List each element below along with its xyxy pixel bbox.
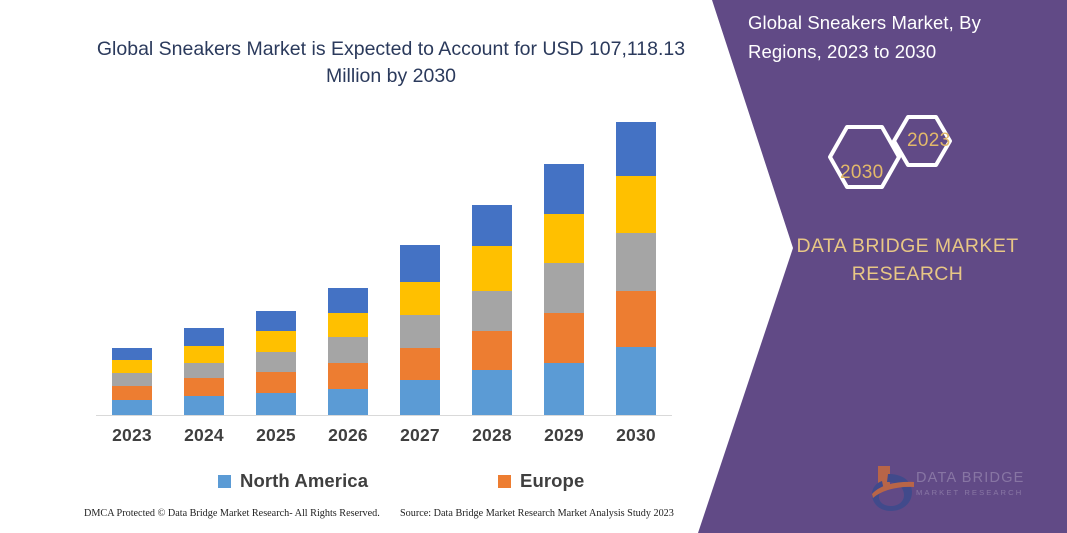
bar-segment <box>400 380 440 415</box>
bar-group-2030[interactable] <box>600 100 672 415</box>
hexagon-label-2023: 2023 <box>907 130 950 152</box>
x-tick-2024: 2024 <box>168 425 240 446</box>
bar-segment <box>616 233 656 291</box>
bar-segment <box>544 164 584 214</box>
chart-title: Global Sneakers Market is Expected to Ac… <box>95 36 687 90</box>
bar-segment <box>256 372 296 393</box>
bar-segment <box>544 263 584 313</box>
dbmr-logo-text: DATA BRIDGE MARKET RESEARCH <box>916 470 1056 499</box>
bar-segment <box>472 205 512 246</box>
stacked-bar[interactable] <box>616 122 656 415</box>
bar-segment <box>544 313 584 362</box>
bar-group-2028[interactable] <box>456 100 528 415</box>
bar-segment <box>184 378 224 396</box>
bar-segment <box>328 389 368 415</box>
bar-segment <box>616 122 656 176</box>
stacked-bar[interactable] <box>112 348 152 415</box>
bar-segment <box>616 347 656 415</box>
x-tick-2030: 2030 <box>600 425 672 446</box>
bar-segment <box>400 348 440 381</box>
bar-group-2029[interactable] <box>528 100 600 415</box>
dbmr-b-mark-icon <box>868 462 916 514</box>
bar-segment <box>112 360 152 373</box>
legend-item-north-america[interactable]: North America <box>218 470 368 492</box>
hexagon-badge-group: 2030 2023 <box>812 105 992 210</box>
bar-segment <box>328 363 368 389</box>
bar-segment <box>328 337 368 362</box>
bar-segment <box>112 386 152 401</box>
x-tick-2028: 2028 <box>456 425 528 446</box>
bar-segment <box>112 373 152 386</box>
bar-group-2027[interactable] <box>384 100 456 415</box>
chart-legend: North America Europe <box>180 470 630 496</box>
x-tick-2026: 2026 <box>312 425 384 446</box>
bar-segment <box>328 313 368 337</box>
bar-group-2023[interactable] <box>96 100 168 415</box>
bar-segment <box>472 370 512 415</box>
bar-segment <box>184 328 224 346</box>
legend-label-europe: Europe <box>520 470 584 492</box>
bar-segment <box>184 346 224 363</box>
bar-segment <box>256 393 296 415</box>
bar-group-2026[interactable] <box>312 100 384 415</box>
bar-segment <box>400 282 440 316</box>
bar-segment <box>472 246 512 291</box>
bar-segment <box>544 363 584 416</box>
stacked-bar[interactable] <box>328 288 368 415</box>
x-tick-2027: 2027 <box>384 425 456 446</box>
x-axis-tick-labels: 20232024202520262027202820292030 <box>96 425 672 451</box>
stacked-bar[interactable] <box>400 245 440 415</box>
bar-segment <box>616 176 656 234</box>
stacked-bar[interactable] <box>184 328 224 415</box>
brand-name: DATA BRIDGE MARKET RESEARCH <box>790 232 1025 288</box>
stacked-bar[interactable] <box>544 164 584 415</box>
legend-item-europe[interactable]: Europe <box>498 470 584 492</box>
bar-segment <box>328 288 368 313</box>
x-tick-2025: 2025 <box>240 425 312 446</box>
bar-segment <box>472 291 512 331</box>
bar-segment <box>400 245 440 282</box>
infographic-canvas: Global Sneakers Market is Expected to Ac… <box>0 0 1067 533</box>
bar-segment <box>400 315 440 348</box>
stacked-bar[interactable] <box>256 311 296 415</box>
bar-segment <box>112 400 152 415</box>
legend-swatch-north-america <box>218 475 231 488</box>
bar-segment <box>544 214 584 262</box>
legend-swatch-europe <box>498 475 511 488</box>
x-tick-2023: 2023 <box>96 425 168 446</box>
bar-segment <box>616 291 656 347</box>
bar-group-2024[interactable] <box>168 100 240 415</box>
bar-segment <box>472 331 512 370</box>
stacked-bar[interactable] <box>472 205 512 415</box>
legend-label-north-america: North America <box>240 470 368 492</box>
hexagon-label-2030: 2030 <box>840 162 883 184</box>
dbmr-logo: DATA BRIDGE MARKET RESEARCH <box>868 462 1058 518</box>
bar-segment <box>184 363 224 379</box>
bar-segment <box>184 396 224 415</box>
dbmr-logo-sub-text: MARKET RESEARCH <box>916 487 1056 499</box>
x-tick-2029: 2029 <box>528 425 600 446</box>
panel-title: Global Sneakers Market, By Regions, 2023… <box>748 8 1048 66</box>
x-axis-line <box>96 415 672 416</box>
footer-dmca-notice: DMCA Protected © Data Bridge Market Rese… <box>84 508 380 519</box>
bar-segment <box>256 311 296 331</box>
bar-chart-plot-area <box>96 100 672 416</box>
bar-group-2025[interactable] <box>240 100 312 415</box>
bar-segment <box>256 331 296 352</box>
footer-source-note: Source: Data Bridge Market Research Mark… <box>400 508 674 519</box>
dbmr-logo-main-text: DATA BRIDGE <box>916 470 1056 487</box>
hexagon-outlines-svg <box>812 105 992 210</box>
bar-segment <box>112 348 152 361</box>
bar-segment <box>256 352 296 372</box>
